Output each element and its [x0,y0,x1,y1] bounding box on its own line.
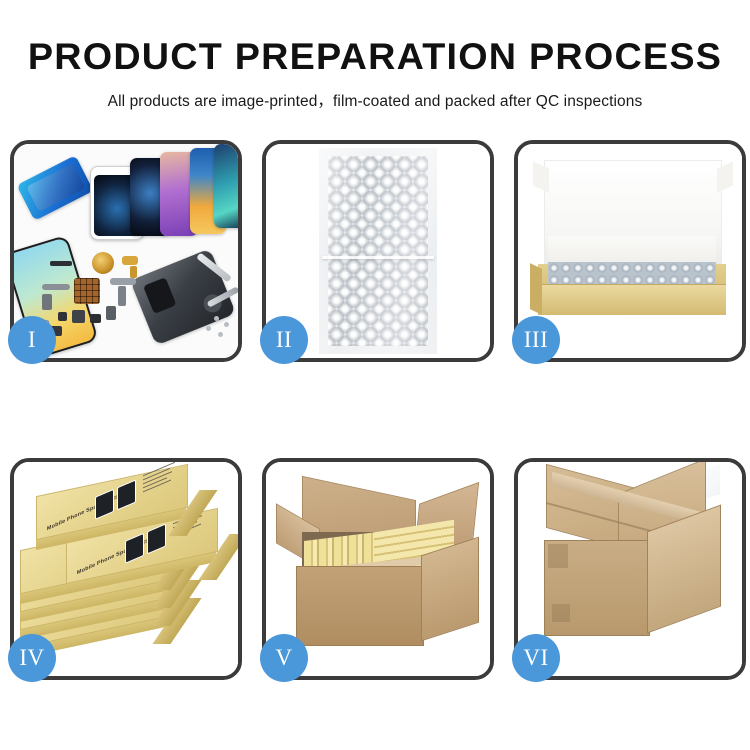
box-label-screen-icon-2 [147,523,166,554]
small-component-icon-4 [106,306,116,320]
wrap-sheen [319,148,437,354]
step-badge-3: III [512,316,560,364]
gold-flex-icon [130,266,137,278]
small-component-icon-3 [90,314,101,323]
small-component-icon-1 [58,312,67,321]
step-badge-6: VI [512,634,560,682]
page-title: PRODUCT PREPARATION PROCESS [0,0,750,75]
box-label-screen-icon-1 [125,533,144,564]
kraft-tray-front [538,284,726,315]
steps-grid: I II [10,140,740,730]
flex-cable-icon-1 [42,284,70,290]
step-panel-1: I [10,140,242,362]
small-component-icon-2 [72,310,85,323]
box-stack: Mobile Phone Spare Parts [20,470,236,670]
step-panel-2: II [262,140,494,362]
infographic-page: PRODUCT PREPARATION PROCESS All products… [0,0,750,750]
flex-cable-icon-2 [42,294,52,310]
step-badge-4: IV [8,634,56,682]
screw-icon-2 [224,322,229,327]
screw-icon-1 [214,316,219,321]
speaker-part-icon [50,261,72,266]
flex-cable-icon-3 [110,278,136,285]
step-badge-2: II [260,316,308,364]
phone-adhesive-frame-icon [17,155,94,221]
step-badge-1: I [8,316,56,364]
step-panel-5: V [262,458,494,680]
flex-cable-icon-4 [118,286,126,306]
step-panel-3: III [514,140,746,362]
kraft-tray-left [530,263,542,315]
screw-icon-4 [218,332,223,337]
box-label-spec-lines [143,462,175,495]
phone-screen-teal-icon [214,144,238,228]
carton-right-face [421,537,479,642]
chip-grid-icon [74,278,100,304]
gold-connector-icon [122,256,138,265]
carton-flap-tab-1 [548,544,568,568]
carton-flap-tab-2 [552,604,570,622]
step-badge-5: V [260,634,308,682]
box-label-screen-icon-2 [117,479,136,510]
step-panel-4: Mobile Phone Spare Parts [10,458,242,680]
page-subtitle: All products are image-printed，film-coat… [0,75,750,111]
carton-front-face [296,566,424,646]
header: PRODUCT PREPARATION PROCESS All products… [0,0,750,111]
box-label-screen-icon-1 [95,489,114,520]
step-panel-6: VI [514,458,746,680]
screw-icon-3 [206,326,211,331]
copper-coil-icon [92,252,114,274]
